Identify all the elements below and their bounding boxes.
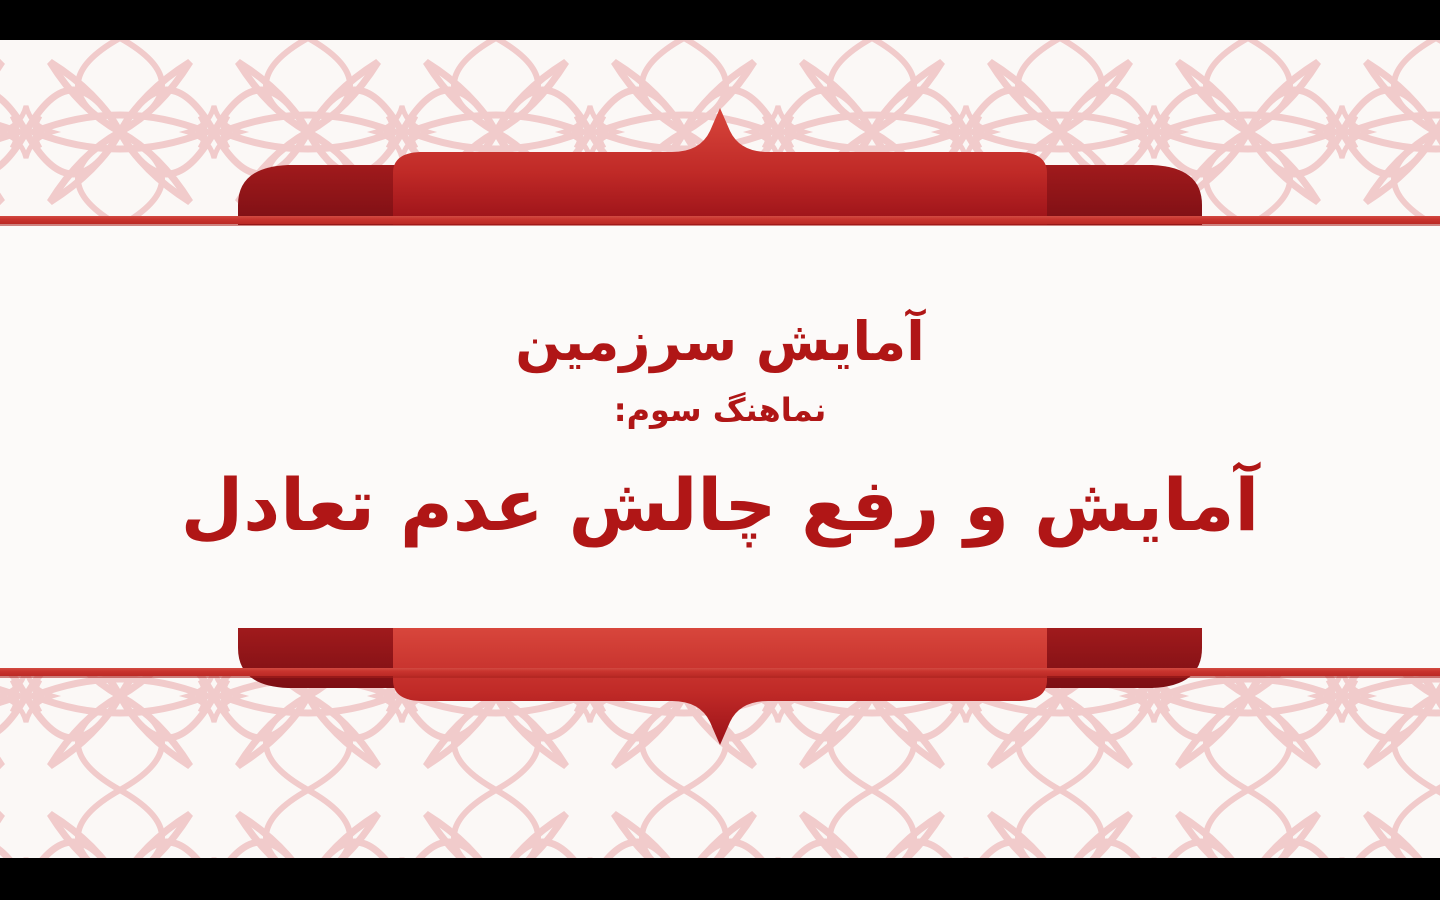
bottom-rule-shadow [0,676,1440,678]
letterbox-bar-bottom [0,858,1440,900]
slide-heading: آمایش سرزمین [0,310,1440,374]
slide-stage: آمایش سرزمین نماهنگ سوم: آمایش و رفع چال… [0,0,1440,900]
bottom-ornament [0,628,1440,758]
slide-canvas: آمایش سرزمین نماهنگ سوم: آمایش و رفع چال… [0,40,1440,858]
bottom-rule [0,668,1440,678]
slide-subheading: نماهنگ سوم: [0,392,1440,430]
top-rule-bar [0,216,1440,224]
bottom-rule-bar [0,668,1440,676]
top-rule [0,216,1440,226]
top-rule-shadow [0,224,1440,226]
letterbox-bar-top [0,0,1440,40]
top-ornament [0,95,1440,225]
title-block: آمایش سرزمین نماهنگ سوم: آمایش و رفع چال… [0,262,1440,548]
slide-main-title: آمایش و رفع چالش عدم تعادل [0,463,1440,548]
